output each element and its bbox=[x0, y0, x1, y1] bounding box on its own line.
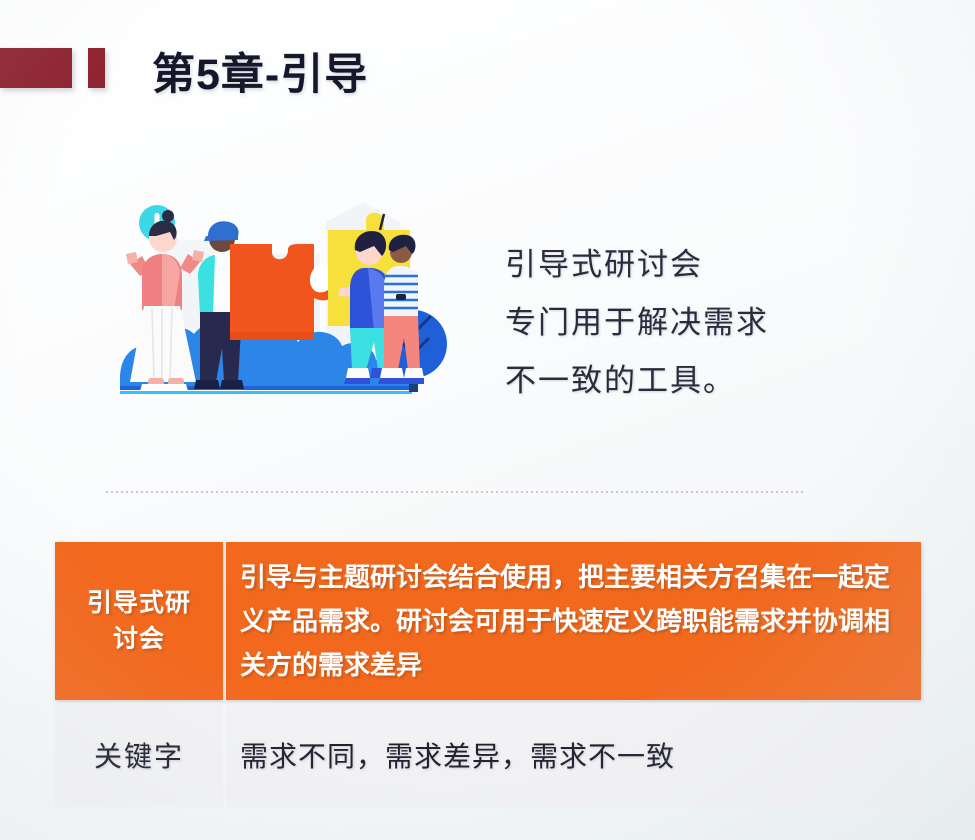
table-row-label-keywords: 关键字 bbox=[55, 703, 223, 807]
header-mark-wide-icon bbox=[0, 48, 72, 88]
page-title: 第5章-引导 bbox=[152, 40, 368, 102]
teamwork-puzzle-illustration bbox=[112, 192, 472, 402]
table-label-text: 关键字 bbox=[94, 735, 184, 775]
table-label-line-1: 引导式研 bbox=[87, 585, 191, 621]
table-row-label-technique: 引导式研 讨会 bbox=[55, 542, 223, 700]
slide-header: 第5章-引导 bbox=[0, 46, 975, 106]
side-text-block: 引导式研讨会 专门用于解决需求 不一致的工具。 bbox=[505, 236, 835, 410]
side-text-line-2: 专门用于解决需求 bbox=[505, 294, 835, 352]
table-body-text: 需求不同，需求差异，需求不一致 bbox=[226, 735, 675, 775]
table-label-line-2: 讨会 bbox=[87, 621, 191, 657]
table-cell-technique-description: 引导与主题研讨会结合使用，把主要相关方召集在一起定义产品需求。研讨会可用于快速定… bbox=[226, 542, 921, 700]
section-divider bbox=[106, 491, 806, 493]
side-text-line-1: 引导式研讨会 bbox=[505, 236, 835, 294]
header-mark-narrow-icon bbox=[88, 48, 105, 88]
definition-table: 引导式研 讨会 引导与主题研讨会结合使用，把主要相关方召集在一起定义产品需求。研… bbox=[55, 542, 921, 810]
table-row: 引导式研 讨会 引导与主题研讨会结合使用，把主要相关方召集在一起定义产品需求。研… bbox=[55, 542, 921, 700]
side-text-line-3: 不一致的工具。 bbox=[505, 352, 835, 410]
slide-canvas: 第5章-引导 bbox=[0, 0, 975, 840]
table-row: 关键字 需求不同，需求差异，需求不一致 bbox=[55, 703, 921, 807]
table-body-text: 引导与主题研讨会结合使用，把主要相关方召集在一起定义产品需求。研讨会可用于快速定… bbox=[226, 555, 921, 687]
table-cell-keywords-value: 需求不同，需求差异，需求不一致 bbox=[226, 703, 921, 807]
